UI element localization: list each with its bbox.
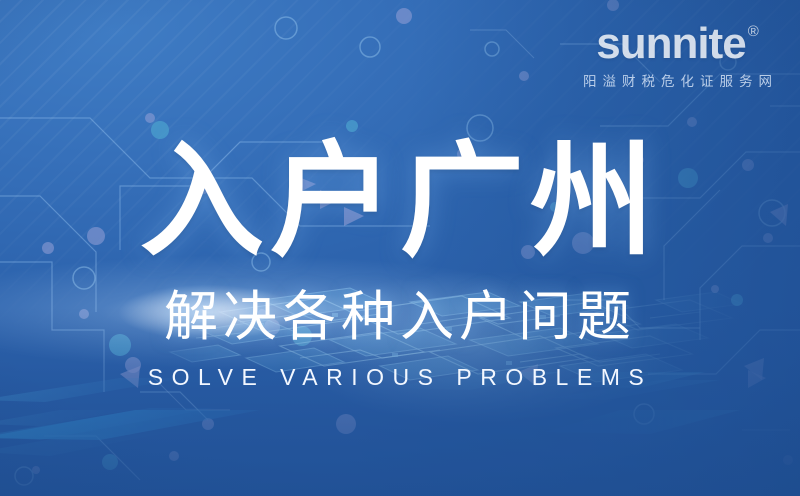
hero-subtitle-en: SOLVE VARIOUS PROBLEMS xyxy=(148,366,652,389)
promo-banner: sunnite ® 阳溢财税危化证服务网 入户广州 解决各种入户问题 SOLVE… xyxy=(0,0,800,496)
hero-subtitle-cn: 解决各种入户问题 xyxy=(164,290,636,344)
page-title: 入户广州 xyxy=(140,140,660,264)
hero-content: 入户广州 解决各种入户问题 SOLVE VARIOUS PROBLEMS xyxy=(0,0,800,496)
